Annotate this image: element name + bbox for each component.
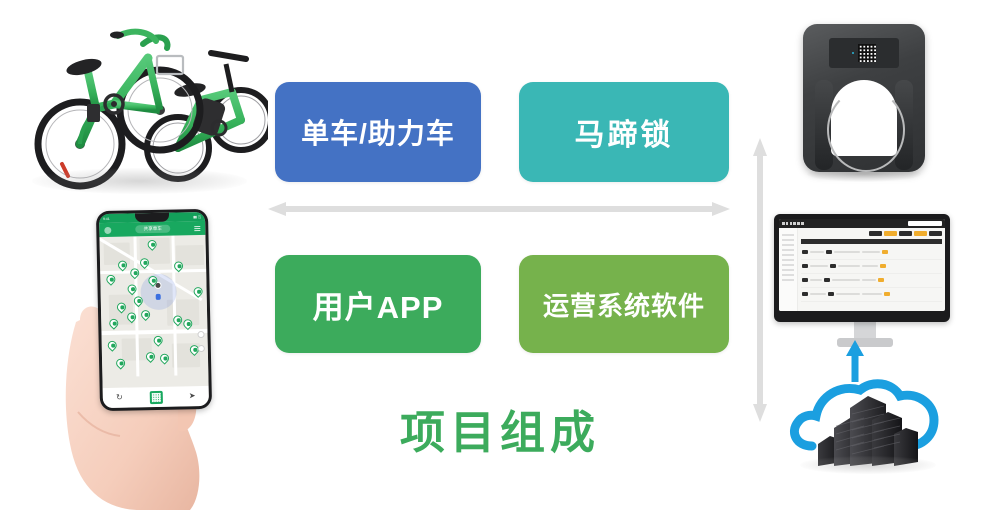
dashboard-button[interactable] xyxy=(899,231,912,236)
row-icon xyxy=(802,292,808,296)
row-cell xyxy=(810,293,826,295)
row-icon xyxy=(802,278,808,282)
row-cell xyxy=(862,293,882,295)
bike-pin[interactable] xyxy=(152,334,165,347)
dashboard-body xyxy=(779,228,945,311)
monitor-bezel xyxy=(774,214,950,322)
table-row[interactable] xyxy=(801,274,942,288)
table-row[interactable] xyxy=(801,288,942,302)
phone-screen: 9:41 ▮▮ ◳ 共享单车 xyxy=(99,212,209,408)
row-cell xyxy=(862,265,878,267)
dashboard-search-input[interactable] xyxy=(908,221,942,226)
lock-qr-code-icon xyxy=(858,44,876,62)
row-cell xyxy=(810,251,824,253)
smart-lock-label: 智能马蹄锁 xyxy=(785,14,786,15)
lock-body xyxy=(803,24,925,172)
row-cell xyxy=(832,279,860,281)
quadrant-bike-label: 单车/助力车 xyxy=(301,112,455,152)
status-led-icon xyxy=(852,52,855,55)
row-tag xyxy=(826,250,832,254)
app-title: 共享单车 xyxy=(136,225,171,234)
bike-pin[interactable] xyxy=(158,352,171,365)
vertical-axis-arrow xyxy=(752,138,768,422)
dashboard-button[interactable] xyxy=(884,231,897,236)
bicycles-shadow xyxy=(32,168,247,194)
quadrant-lock-label: 马蹄锁 xyxy=(575,110,674,154)
phone-photo-label: 用户APP手机界面 xyxy=(60,210,61,211)
dashboard-toolbar xyxy=(801,231,942,236)
dashboard-logo-icon xyxy=(782,222,804,225)
dashboard-header xyxy=(779,219,945,228)
locate-me-button[interactable] xyxy=(197,331,204,338)
quadrant-app-label: 用户APP xyxy=(313,282,444,327)
lock-qr-panel[interactable] xyxy=(829,38,899,68)
smartphone: 9:41 ▮▮ ◳ 共享单车 xyxy=(96,209,212,411)
bike-pin[interactable] xyxy=(104,273,117,286)
row-tag xyxy=(828,292,834,296)
bike-pin[interactable] xyxy=(106,339,119,352)
dashboard-button[interactable] xyxy=(869,231,882,236)
cloud-server-photo: 云服务器 xyxy=(788,340,948,480)
row-cell xyxy=(836,293,860,295)
quadrant-bike-box[interactable]: 单车/助力车 xyxy=(275,82,481,182)
smart-lock-photo: 智能马蹄锁 xyxy=(785,14,945,194)
row-action[interactable] xyxy=(884,292,890,296)
table-row[interactable] xyxy=(801,260,942,274)
server-racks-icon xyxy=(816,392,920,466)
dashboard-sidebar[interactable] xyxy=(779,228,798,311)
location-dot xyxy=(156,294,161,300)
dashboard-button[interactable] xyxy=(929,231,942,236)
table-row[interactable] xyxy=(801,246,942,260)
map-view[interactable] xyxy=(99,235,208,388)
row-cell xyxy=(862,279,876,281)
row-cell xyxy=(838,265,860,267)
monitor-screen xyxy=(779,219,945,311)
quadrant-app-box[interactable]: 用户APP xyxy=(275,255,481,353)
bicycles-photo: 共享单车与助力车 xyxy=(18,8,268,208)
row-cell xyxy=(834,251,860,253)
bike-pin[interactable] xyxy=(128,267,141,280)
dashboard-main xyxy=(798,228,945,311)
row-action[interactable] xyxy=(880,264,886,268)
quadrant-ops-box[interactable]: 运营系统软件 xyxy=(519,255,729,353)
dashboard-button[interactable] xyxy=(914,231,927,236)
app-header: 共享单车 xyxy=(99,221,205,237)
quadrant-diagram: 单车/助力车 马蹄锁 用户APP 运营系统软件 xyxy=(260,60,740,360)
menu-icon[interactable] xyxy=(194,226,200,231)
row-cell xyxy=(862,251,880,253)
row-cell xyxy=(810,279,822,281)
phone-photo: 用户APP手机界面 9:41 ▮▮ ◳ xyxy=(60,210,235,510)
row-tag xyxy=(830,264,836,268)
phone-notch xyxy=(135,213,169,223)
cloud-shadow xyxy=(800,456,936,474)
map-layer-button[interactable] xyxy=(198,345,205,352)
dashboard-table-header xyxy=(801,239,942,244)
status-indicators: ▮▮ ◳ xyxy=(193,214,201,218)
admin-monitor-label: 运营管理后台 xyxy=(772,214,773,215)
quadrant-lock-box[interactable]: 马蹄锁 xyxy=(519,82,729,182)
row-icon xyxy=(802,250,808,254)
avatar-icon[interactable] xyxy=(104,226,111,233)
row-action[interactable] xyxy=(878,278,884,282)
map-road xyxy=(101,329,207,335)
admin-monitor-photo: 运营管理后台 xyxy=(772,214,958,350)
poster-canvas: 共享单车与助力车 xyxy=(0,0,1000,519)
bike-pin[interactable] xyxy=(139,308,152,321)
status-time: 9:41 xyxy=(103,216,110,220)
row-icon xyxy=(802,264,808,268)
lock-shackle xyxy=(827,88,905,172)
row-cell xyxy=(810,265,828,267)
row-tag xyxy=(824,278,830,282)
horizontal-axis-arrow xyxy=(268,201,730,217)
cloud-server-label: 云服务器 xyxy=(788,340,789,341)
row-action[interactable] xyxy=(882,250,888,254)
quadrant-ops-label: 运营系统软件 xyxy=(543,286,705,323)
